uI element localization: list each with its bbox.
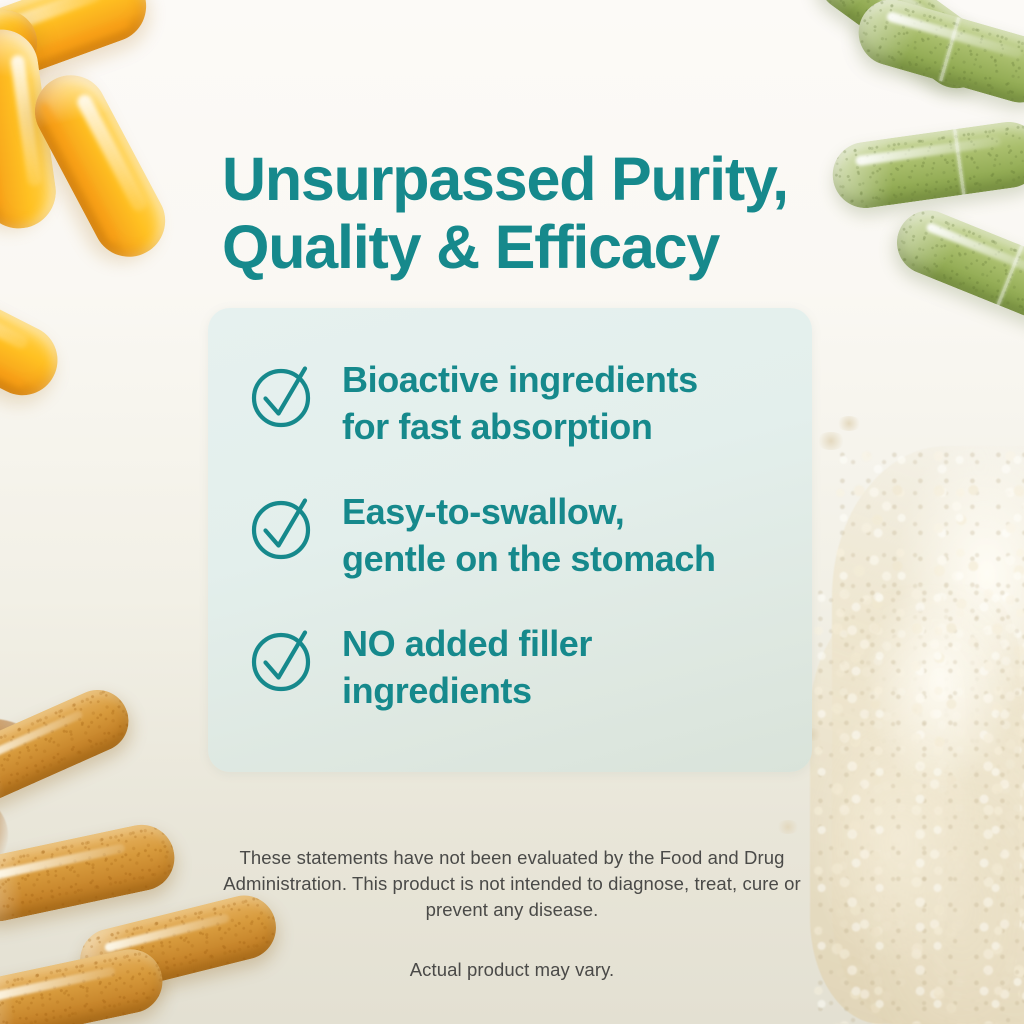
list-item: Bioactive ingredients for fast absorptio… [248,356,698,450]
spilled-turmeric-powder [0,718,44,788]
disclaimer: These statements have not been evaluated… [212,845,812,983]
capsule-seam [953,129,965,195]
capsule-grain-texture [851,0,1024,110]
powder-speck [776,820,800,834]
turmeric-capsule-cluster [0,700,230,1024]
benefits-list: Bioactive ingredients for fast absorptio… [208,308,812,772]
powder-mass [832,446,1024,1024]
softgel-capsule [0,0,51,146]
softgel-capsule [0,25,61,233]
capsule-grain-texture [887,201,1024,335]
capsule-grain-texture [805,0,1002,101]
headline-line-1: Unsurpassed Purity, [222,145,788,213]
spilled-turmeric-powder [0,792,8,878]
capsule-grain-texture [0,680,138,814]
circle-check-icon [248,622,322,696]
powder-speck [816,432,846,450]
list-item: NO added filler ingredients [248,620,592,714]
fda-disclaimer-text: These statements have not been evaluated… [223,847,801,920]
list-item-label: Easy-to-swallow, gentle on the stomach [342,488,716,582]
capsule-seam [939,17,960,81]
list-item: Easy-to-swallow, gentle on the stomach [248,488,716,582]
list-item-label: Bioactive ingredients for fast absorptio… [342,356,698,450]
capsule-seam [862,0,903,29]
capsule-grain-texture [0,819,181,928]
capsule-grain-texture [0,943,168,1024]
turmeric-capsule [0,819,181,928]
green-capsule-cluster [800,0,1024,314]
softgel-capsule [22,63,178,270]
circle-check-icon [248,358,322,432]
softgel-capsule [0,0,156,96]
powder-texture [810,584,1020,1024]
product-infographic: Unsurpassed Purity, Quality & Efficacy B… [0,0,1024,1024]
green-capsule [851,0,1024,110]
page-title: Unsurpassed Purity, Quality & Efficacy [222,145,822,281]
powder-mass [810,584,1020,1024]
protein-powder-mound [806,428,1024,1024]
turmeric-capsule [0,680,138,814]
powder-speck [836,416,862,431]
powder-texture [832,446,1024,1024]
softgel-capsule [0,259,70,408]
green-capsule [887,201,1024,335]
list-item-label: NO added filler ingredients [342,620,592,714]
green-capsule [805,0,1002,101]
green-capsule [828,118,1024,213]
circle-check-icon [248,490,322,564]
product-variation-note: Actual product may vary. [212,957,812,983]
capsule-grain-texture [828,118,1024,213]
turmeric-capsule [0,943,168,1024]
amber-softgel-cluster [0,0,240,420]
headline-line-2: Quality & Efficacy [222,213,822,281]
benefits-card: Bioactive ingredients for fast absorptio… [208,308,812,772]
capsule-seam [997,245,1024,305]
spilled-turmeric-powder [0,860,6,904]
